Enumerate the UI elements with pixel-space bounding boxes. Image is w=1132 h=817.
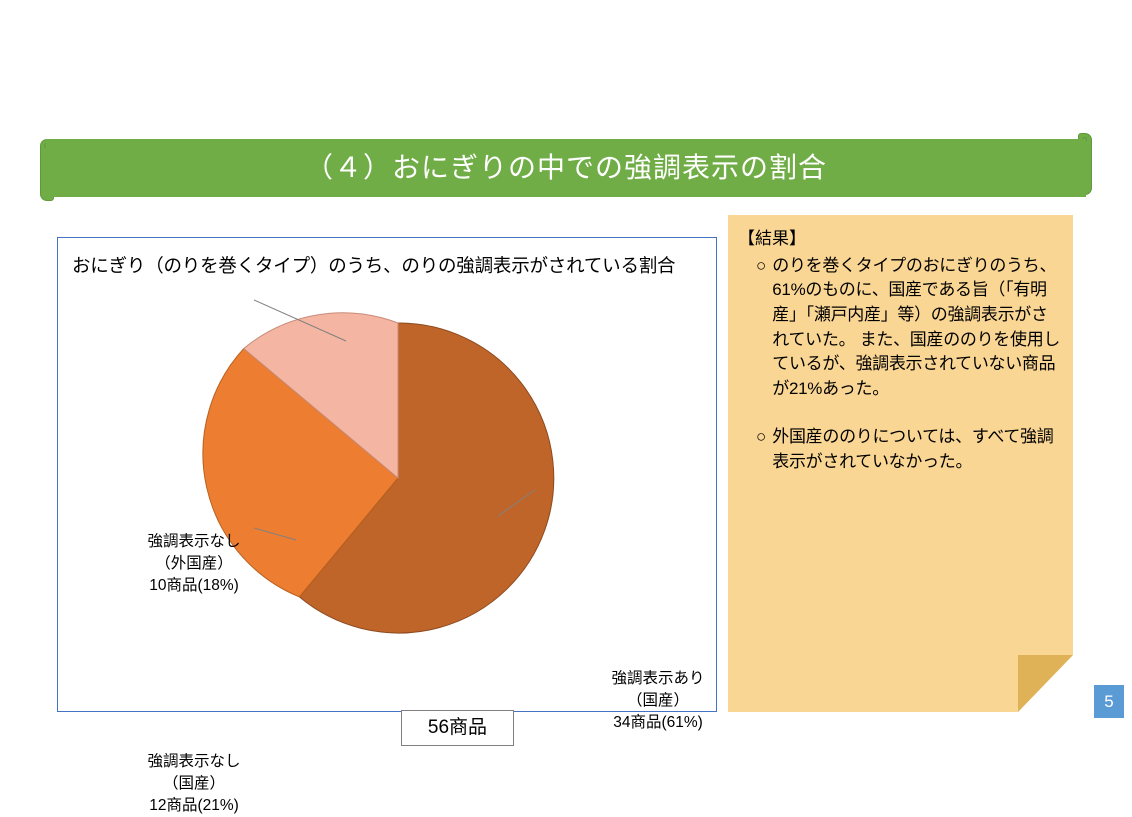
chart-panel: おにぎり（のりを巻くタイプ）のうち、のりの強調表示がされている割合 (57, 237, 717, 712)
page-number-badge: 5 (1094, 685, 1124, 718)
pie-label-no-foreign-line2: （外国産） (94, 553, 294, 575)
bullet-circle-icon: ○ (756, 254, 766, 402)
bullet-circle-icon-2: ○ (756, 425, 766, 474)
pie-chart-svg (58, 238, 718, 713)
note-content: 【結果】 ○ のりを巻くタイプのおにぎりのうち、61%のものに、国産である旨（「… (728, 215, 1073, 712)
pie-label-no-domestic-line3: 12商品(21%) (94, 795, 294, 817)
pie-label-no-domestic-line1: 強調表示なし (94, 751, 294, 773)
pie-label-no-domestic-line2: （国産） (94, 773, 294, 795)
pie-label-no-foreign-line3: 10商品(18%) (94, 575, 294, 597)
title-ribbon: （４）おにぎりの中での強調表示の割合 (36, 133, 1096, 203)
note-bullet-1: ○ のりを巻くタイプのおにぎりのうち、61%のものに、国産である旨（「有明産」「… (738, 254, 1063, 402)
results-note-panel: 【結果】 ○ のりを巻くタイプのおにぎりのうち、61%のものに、国産である旨（「… (728, 215, 1073, 712)
slide-title: （４）おにぎりの中での強調表示の割合 (46, 139, 1086, 197)
pie-center-total-label: 56商品 (401, 710, 514, 746)
note-bullet-1-text: のりを巻くタイプのおにぎりのうち、61%のものに、国産である旨（「有明産」「瀬戸… (772, 254, 1063, 402)
note-bullet-2-text: 外国産ののりについては、すべて強調表示がされていなかった。 (772, 425, 1063, 474)
pie-label-yes-domestic-line3: 34商品(61%) (558, 712, 758, 734)
note-bullet-2: ○ 外国産ののりについては、すべて強調表示がされていなかった。 (738, 425, 1063, 474)
note-heading: 【結果】 (738, 227, 1063, 252)
pie-chart (58, 238, 718, 713)
pie-label-no-foreign-line1: 強調表示なし (94, 531, 294, 553)
slide-canvas: （４）おにぎりの中での強調表示の割合 おにぎり（のりを巻くタイプ）のうち、のりの… (0, 0, 1132, 800)
pie-label-no-foreign: 強調表示なし （外国産） 10商品(18%) (94, 531, 294, 597)
pie-label-no-domestic: 強調表示なし （国産） 12商品(21%) (94, 751, 294, 817)
